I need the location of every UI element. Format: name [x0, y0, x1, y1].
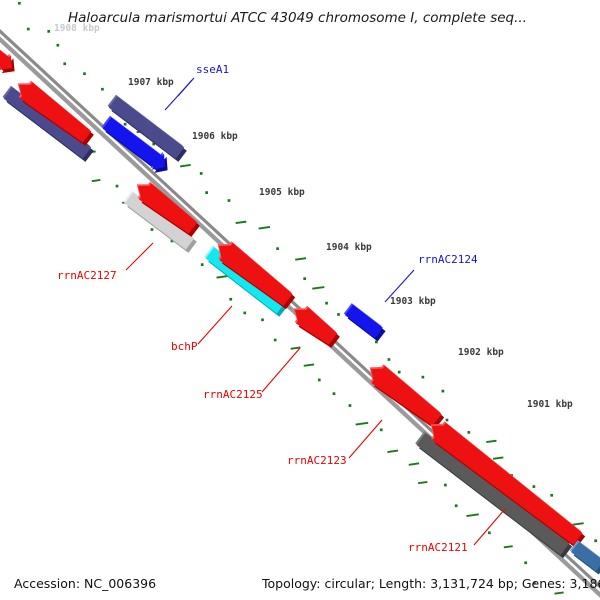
- gene-feature[interactable]: [431, 421, 585, 548]
- accession-text: Accession: NC_006396: [14, 576, 156, 591]
- gene-feature[interactable]: [294, 306, 340, 348]
- gene-label[interactable]: bchP: [171, 340, 198, 353]
- genome-map-svg[interactable]: 1908 kbp1907 kbp1906 kbp1905 kbp1904 kbp…: [0, 0, 600, 600]
- genome-viewer-canvas[interactable]: 1908 kbp1907 kbp1906 kbp1905 kbp1904 kbp…: [0, 0, 600, 600]
- label-leader-line: [349, 420, 382, 458]
- topology-summary-text: Topology: circular; Length: 3,131,724 bp…: [261, 576, 600, 591]
- ruler-tick-label: 1904 kbp: [326, 242, 372, 253]
- label-leader-line: [262, 348, 300, 392]
- gene-label[interactable]: rrnAC2125: [203, 388, 263, 401]
- gene-feature[interactable]: [344, 303, 386, 341]
- gene-label[interactable]: rrnAC2123: [287, 454, 347, 467]
- gene-feature[interactable]: [415, 431, 572, 558]
- gene-label[interactable]: rrnAC2124: [418, 253, 478, 266]
- ruler-tick-label: 1907 kbp: [128, 77, 174, 88]
- map-title-layer: Haloarcula marismortui ATCC 43049 chromo…: [68, 10, 527, 26]
- gene-label[interactable]: rrnAC2121: [408, 541, 468, 554]
- ruler-tick-label: 1905 kbp: [259, 187, 305, 198]
- ruler-tick-label: 1906 kbp: [192, 131, 238, 142]
- gene-label[interactable]: rrnAC2127: [57, 269, 117, 282]
- gene-label[interactable]: sseA1: [196, 63, 229, 76]
- ruler-tick-label: 1901 kbp: [527, 399, 573, 410]
- ruler-tick-labels: 1908 kbp1907 kbp1906 kbp1905 kbp1904 kbp…: [54, 23, 573, 410]
- gene-feature[interactable]: [370, 364, 444, 429]
- ruler-tick-label: 1902 kbp: [458, 347, 504, 358]
- page-title: Haloarcula marismortui ATCC 43049 chromo…: [68, 10, 527, 26]
- label-leader-line: [198, 306, 232, 344]
- label-leader-line: [126, 243, 153, 270]
- status-bar: Accession: NC_006396 Topology: circular;…: [0, 566, 600, 600]
- ruler-tick-label: 1903 kbp: [390, 296, 436, 307]
